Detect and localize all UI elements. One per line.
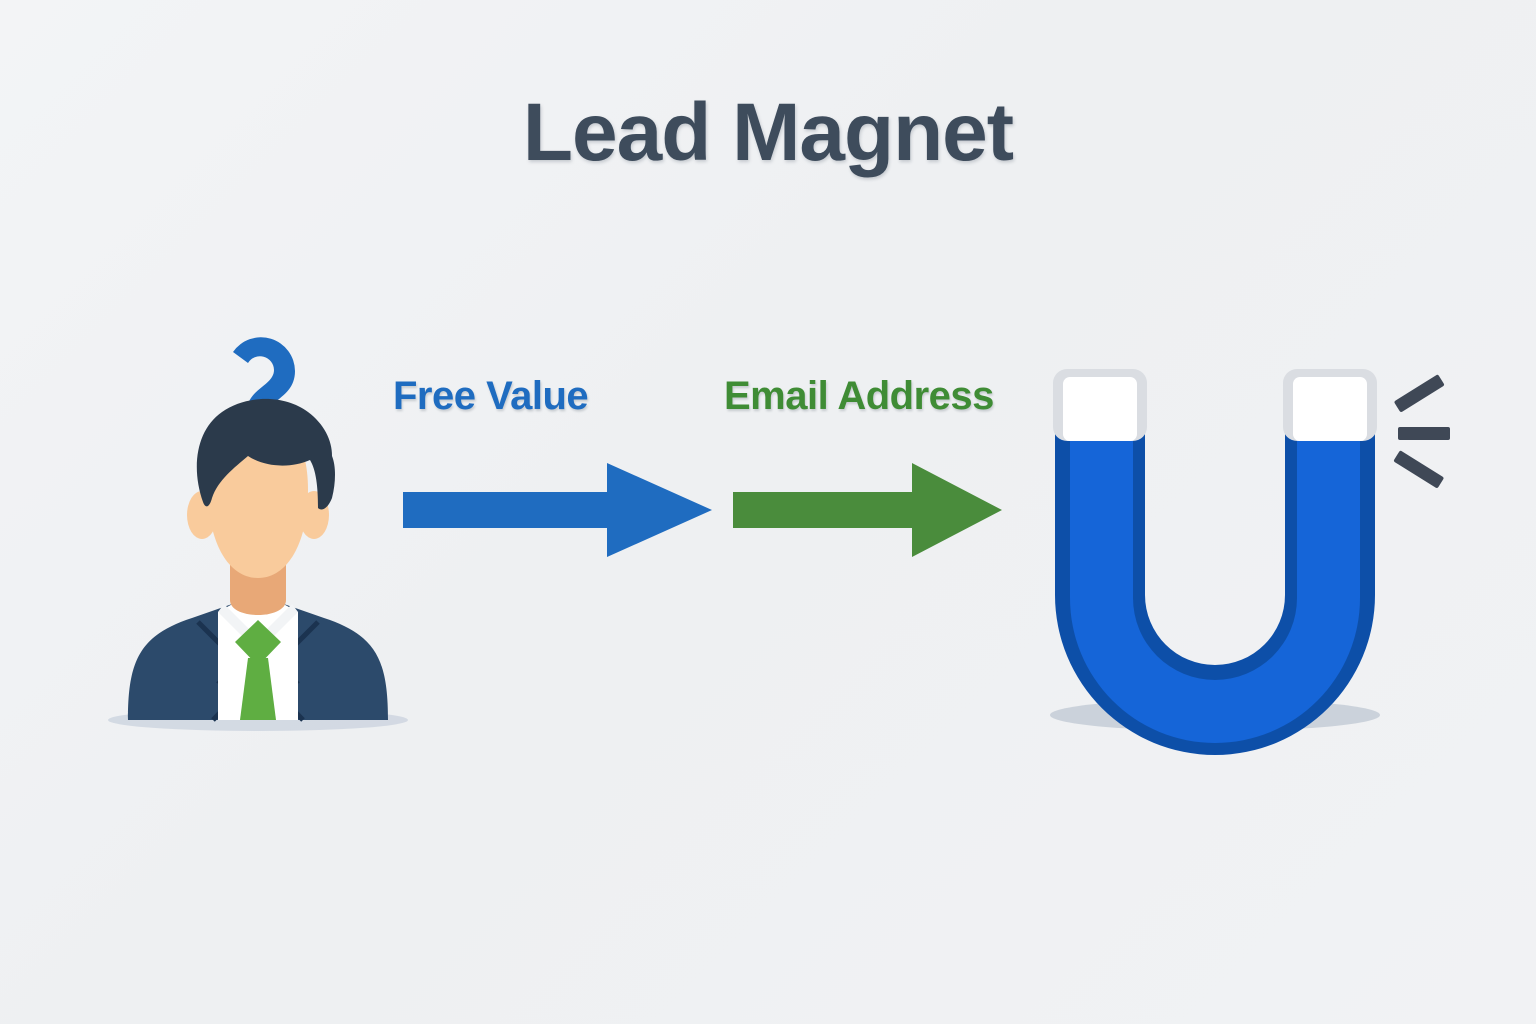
page-title: Lead Magnet	[0, 86, 1536, 180]
diagram-canvas: Lead Magnet	[0, 0, 1536, 1024]
label-free-value: Free Value	[393, 374, 588, 419]
arrow-free-value	[400, 460, 715, 560]
magnet-pole-left	[1053, 369, 1147, 441]
magnet-pole-right	[1283, 369, 1377, 441]
magnet-body-inner	[1070, 425, 1360, 743]
arrow-email-address	[730, 460, 1005, 560]
label-email-address: Email Address	[724, 374, 994, 419]
magnet-spark-icon	[1393, 374, 1450, 489]
lead-magnet	[1015, 355, 1465, 755]
